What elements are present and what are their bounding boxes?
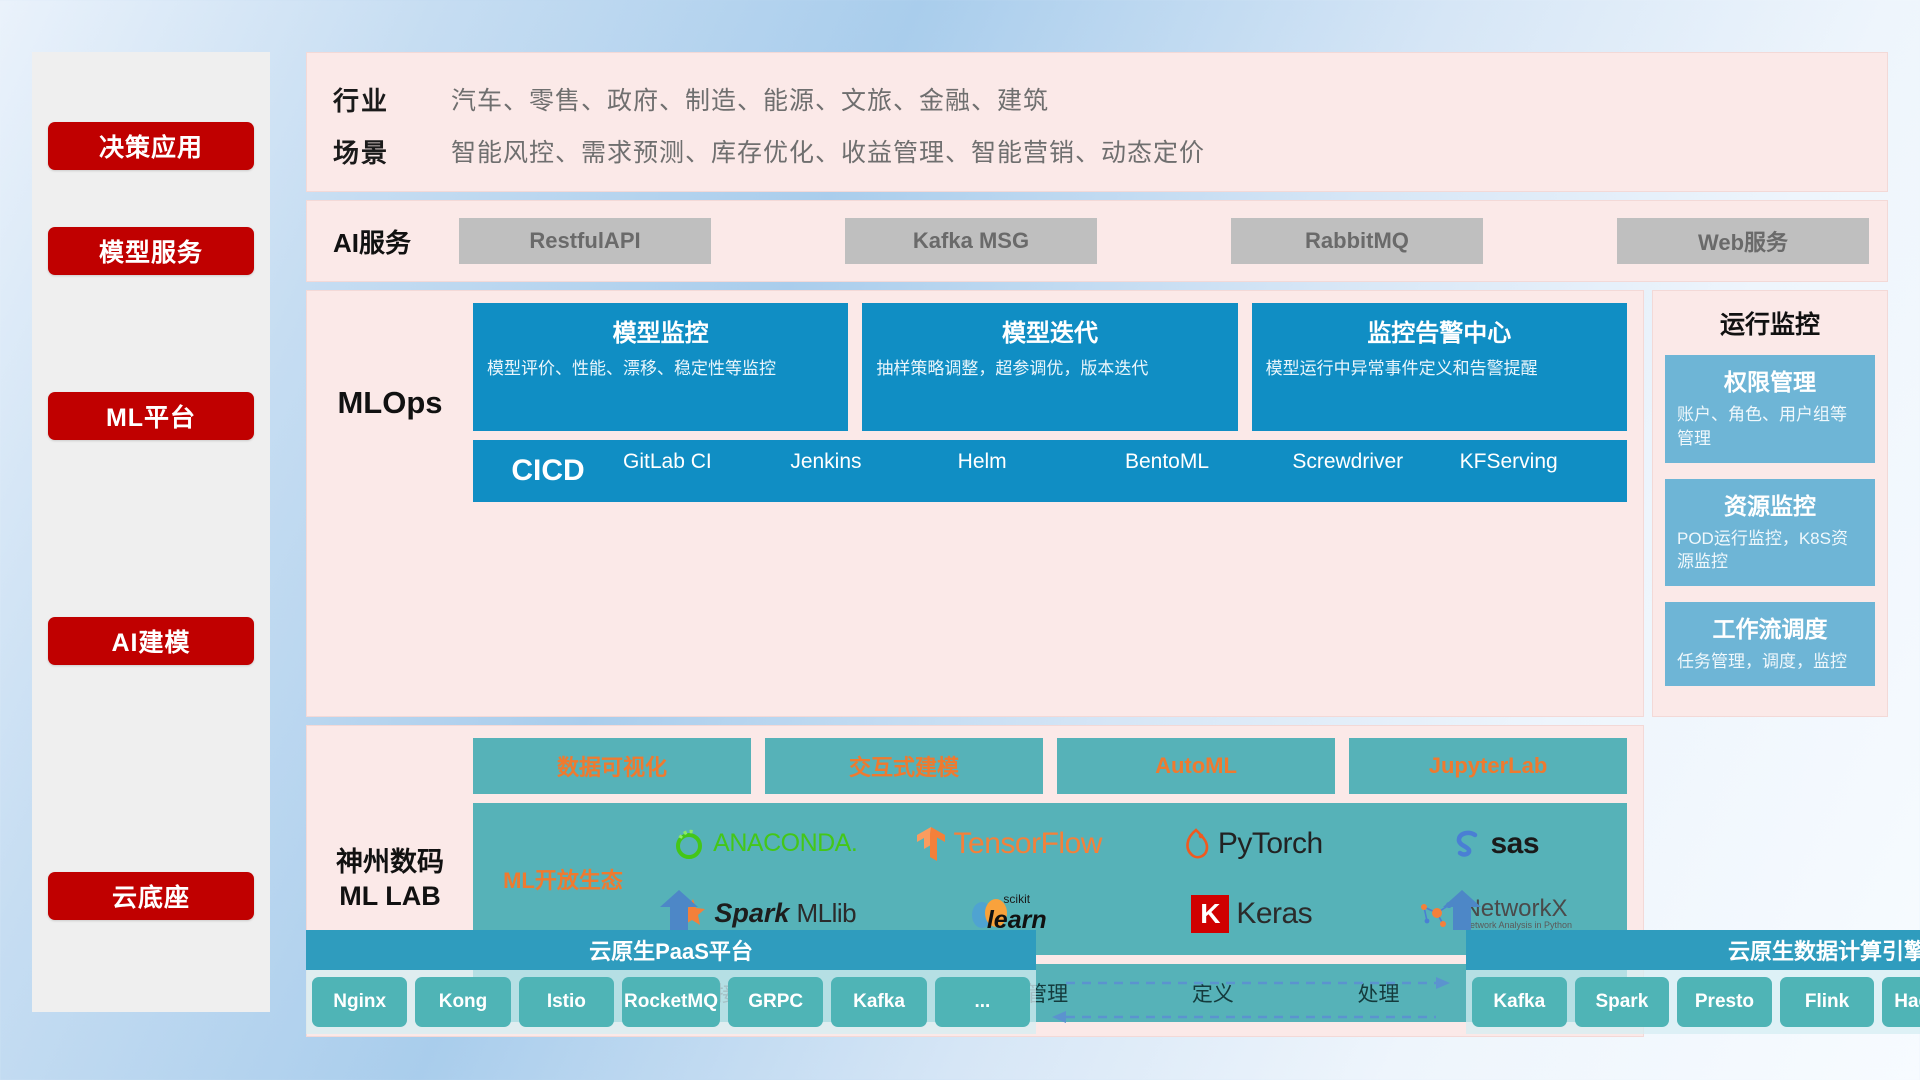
engine-up-arrow [1441,890,1483,930]
engine-chip-label: Flink [1805,992,1849,1012]
cicd-item-screwdriver[interactable]: Screwdriver [1292,449,1459,493]
paas-chip-label: RocketMQ [624,992,718,1012]
cicd-item-group: GitLab CI Jenkins Helm BentoML Screwdriv… [623,449,1627,493]
engine-chip-group: Kafka Spark Presto Flink Hadoop Storm ..… [1466,970,1920,1034]
application-band: 行业 汽车、零售、政府、制造、能源、文旅、金融、建筑 场景 智能风控、需求预测、… [306,52,1888,192]
cloud-foundation: 云原生PaaS平台 Nginx Kong Istio RocketMQ GRPC… [306,892,1888,1040]
engine-chip-label: Presto [1695,992,1754,1012]
layer-chip-decision[interactable]: 决策应用 [48,122,254,170]
paas-engine-link [1036,970,1466,1030]
mlops-card-title: 模型监控 [487,313,834,348]
cicd-item-helm[interactable]: Helm [958,449,1125,493]
service-chip-label: RabbitMQ [1305,228,1409,254]
lab-tool-interactive-modeling[interactable]: 交互式建模 [765,738,1043,794]
pytorch-wordmark: PyTorch [1218,827,1323,861]
runtime-monitor-band: 运行监控 权限管理 账户、角色、用户组等管理 资源监控 POD运行监控，K8S资… [1652,290,1888,717]
service-chip-label: Kafka MSG [913,228,1029,254]
layer-chip-label: 决策应用 [99,128,203,164]
scenario-key: 场景 [333,133,451,170]
service-chip-restfulapi[interactable]: RestfulAPI [459,218,711,264]
cicd-item-bentoml[interactable]: BentoML [1125,449,1292,493]
paas-chip-kafka[interactable]: Kafka [831,977,926,1027]
engine-chip-flink[interactable]: Flink [1780,977,1875,1027]
tensorflow-icon [915,825,947,863]
scenario-row: 场景 智能风控、需求预测、库存优化、收益管理、智能营销、动态定价 [333,125,1887,177]
mlops-card-desc: 模型运行中异常事件定义和告警提醒 [1266,357,1613,382]
paas-chip-grpc[interactable]: GRPC [728,977,823,1027]
cicd-item-jenkins[interactable]: Jenkins [790,449,957,493]
paas-chip-nginx[interactable]: Nginx [312,977,407,1027]
layer-chip-model-service[interactable]: 模型服务 [48,227,254,275]
layer-chip-label: 模型服务 [99,233,203,269]
mlops-card-model-monitoring[interactable]: 模型监控 模型评价、性能、漂移、稳定性等监控 [473,303,848,431]
mlops-card-group: 模型监控 模型评价、性能、漂移、稳定性等监控 模型迭代 抽样策略调整，超参调优，… [473,303,1627,431]
runtime-monitor-title: 运行监控 [1665,305,1875,341]
engine-chip-presto[interactable]: Presto [1677,977,1772,1027]
ml-lab-tool-group: 数据可视化 交互式建模 AutoML JupyterLab [473,738,1627,794]
ml-lab-label-line1: 神州数码 [336,846,444,880]
layer-chip-ml-platform[interactable]: ML平台 [48,392,254,440]
layer-chip-cloud-base[interactable]: 云底座 [48,872,254,920]
scikit-wordmark: scikit [1003,892,1030,906]
ai-service-chip-group: RestfulAPI Kafka MSG RabbitMQ Web服务 [459,218,1887,264]
monitor-card-desc: 任务管理，调度，监控 [1677,650,1863,674]
service-chip-kafka-msg[interactable]: Kafka MSG [845,218,1097,264]
paas-chip-more[interactable]: ... [935,977,1030,1027]
architecture-stack: 行业 汽车、零售、政府、制造、能源、文旅、金融、建筑 场景 智能风控、需求预测、… [306,52,1888,1037]
paas-chip-label: Kong [439,992,488,1012]
mlops-card-title: 模型迭代 [876,313,1223,348]
pytorch-icon [1181,826,1211,862]
mlops-card-model-iteration[interactable]: 模型迭代 抽样策略调整，超参调优，版本迭代 [862,303,1237,431]
engine-chip-kafka[interactable]: Kafka [1472,977,1567,1027]
service-chip-rabbitmq[interactable]: RabbitMQ [1231,218,1483,264]
industry-value: 汽车、零售、政府、制造、能源、文旅、金融、建筑 [451,81,1049,117]
industry-row: 行业 汽车、零售、政府、制造、能源、文旅、金融、建筑 [333,73,1887,125]
layer-chip-label: 云底座 [112,878,190,914]
paas-chip-rocketmq[interactable]: RocketMQ [622,977,720,1027]
paas-chip-istio[interactable]: Istio [519,977,614,1027]
ai-service-band: AI服务 RestfulAPI Kafka MSG RabbitMQ Web服务 [306,200,1888,282]
anaconda-logo: ANACONDA. [643,809,887,879]
lab-tool-data-visualization[interactable]: 数据可视化 [473,738,751,794]
service-chip-web-service[interactable]: Web服务 [1617,218,1869,264]
service-chip-label: Web服务 [1698,225,1788,257]
engine-chip-hadoop[interactable]: Hadoop [1882,977,1920,1027]
cicd-item-kfserving[interactable]: KFServing [1460,449,1627,493]
ai-service-label: AI服务 [333,223,459,260]
lab-tool-label: JupyterLab [1429,753,1548,779]
sas-wordmark: sas [1490,827,1539,861]
layer-rail: 决策应用 模型服务 ML平台 AI建模 云底座 [32,52,270,1012]
engine-group: 云原生数据计算引擎 Kafka Spark Presto Flink Hadoo… [1466,930,1920,1034]
lab-tool-label: 数据可视化 [557,750,667,782]
engine-chip-label: Kafka [1493,992,1545,1012]
monitor-card-title: 权限管理 [1677,363,1863,397]
anaconda-icon [672,827,706,861]
paas-chip-label: Nginx [333,992,386,1012]
paas-title: 云原生PaaS平台 [306,930,1036,970]
paas-up-arrow [658,890,700,930]
tensorflow-wordmark: TensorFlow [954,827,1102,861]
cicd-item-gitlab-ci[interactable]: GitLab CI [623,449,790,493]
industry-key: 行业 [333,81,451,118]
engine-title: 云原生数据计算引擎 [1466,930,1920,970]
paas-group: 云原生PaaS平台 Nginx Kong Istio RocketMQ GRPC… [306,930,1036,1034]
tensorflow-logo: TensorFlow [887,809,1131,879]
lab-tool-automl[interactable]: AutoML [1057,738,1335,794]
scenario-value: 智能风控、需求预测、库存优化、收益管理、智能营销、动态定价 [451,133,1205,169]
learn-wordmark: learn [987,906,1047,935]
mlops-label: MLOps [307,303,473,502]
paas-chip-label: Istio [547,992,586,1012]
monitor-card-title: 工作流调度 [1677,610,1863,644]
mlops-card-alert-center[interactable]: 监控告警中心 模型运行中异常事件定义和告警提醒 [1252,303,1627,431]
engine-chip-label: Hadoop [1894,992,1920,1012]
mlops-band: MLOps 模型监控 模型评价、性能、漂移、稳定性等监控 模型迭代 抽样策略调整… [306,290,1644,717]
paas-chip-label: ... [974,992,990,1012]
mlops-card-desc: 模型评价、性能、漂移、稳定性等监控 [487,357,834,382]
mlops-card-title: 监控告警中心 [1266,313,1613,348]
anaconda-wordmark: ANACONDA. [713,829,857,858]
monitor-card-desc: 账户、角色、用户组等管理 [1677,403,1863,451]
lab-tool-label: 交互式建模 [849,750,959,782]
mlops-row: MLOps 模型监控 模型评价、性能、漂移、稳定性等监控 模型迭代 抽样策略调整… [306,290,1888,717]
paas-chip-kong[interactable]: Kong [415,977,510,1027]
monitor-card-permission[interactable]: 权限管理 账户、角色、用户组等管理 [1665,355,1875,463]
sas-icon [1451,828,1483,860]
layer-chip-label: ML平台 [106,398,196,434]
sas-logo: sas [1374,809,1618,879]
ml-ecosystem-label: ML开放生态 [483,863,643,895]
pytorch-logo: PyTorch [1130,809,1374,879]
lab-tool-label: AutoML [1155,753,1237,779]
monitor-card-desc: POD运行监控，K8S资源监控 [1677,527,1863,575]
monitor-card-workflow[interactable]: 工作流调度 任务管理，调度，监控 [1665,602,1875,686]
monitor-card-title: 资源监控 [1677,487,1863,521]
engine-chip-label: Spark [1595,992,1648,1012]
paas-chip-label: Kafka [853,992,905,1012]
mlops-card-desc: 抽样策略调整，超参调优，版本迭代 [876,357,1223,382]
layer-chip-ai-modeling[interactable]: AI建模 [48,617,254,665]
engine-chip-spark[interactable]: Spark [1575,977,1670,1027]
cicd-bar: CICD GitLab CI Jenkins Helm BentoML Scre… [473,440,1627,502]
monitor-card-resource[interactable]: 资源监控 POD运行监控，K8S资源监控 [1665,479,1875,587]
paas-chip-label: GRPC [748,992,803,1012]
service-chip-label: RestfulAPI [529,228,640,254]
layer-chip-label: AI建模 [111,623,190,659]
lab-tool-jupyterlab[interactable]: JupyterLab [1349,738,1627,794]
paas-chip-group: Nginx Kong Istio RocketMQ GRPC Kafka ... [306,970,1036,1034]
cicd-title: CICD [473,454,623,488]
